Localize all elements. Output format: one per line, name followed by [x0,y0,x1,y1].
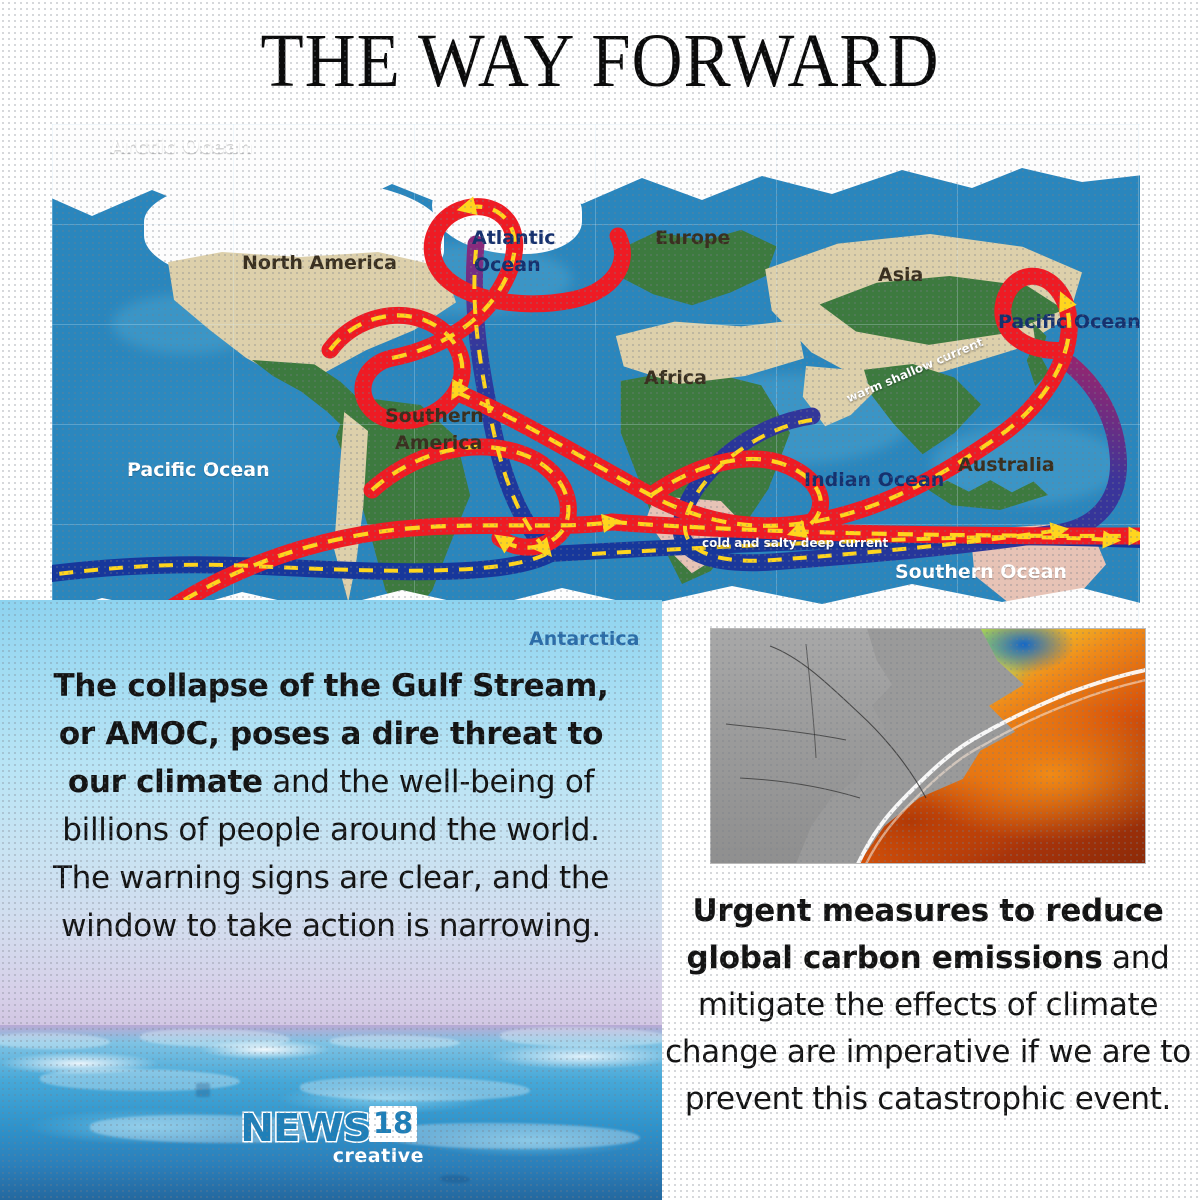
label-pacific-ocean-left: Pacific Ocean [127,459,270,481]
left-statement-text: The collapse of the Gulf Stream, or AMOC… [44,662,618,950]
right-statement-text: Urgent measures to reduce global carbon … [664,888,1192,1123]
label-cold-salty-deep-current: cold and salty deep current [702,536,888,550]
label-indian-ocean: Indian Ocean [804,469,944,491]
label-pacific-ocean-right: Pacific Ocean [998,311,1140,333]
label-atlantic-ocean-2: Ocean [474,254,541,276]
ocean-current-paths [52,124,1140,624]
right-statement-bold: Urgent measures to reduce global carbon … [687,893,1164,976]
label-atlantic-ocean-1: Atlantic [472,227,556,249]
gulf-stream-sst-satellite-image [710,628,1146,864]
label-southern-america-2: America [395,432,482,454]
thermohaline-circulation-map: Arctic Ocean North America Atlantic Ocea… [52,124,1140,624]
label-southern-ocean: Southern Ocean [895,561,1067,583]
label-australia: Australia [958,454,1055,476]
label-africa: Africa [644,367,707,389]
logo-wordmark: NEWS [240,1109,370,1147]
satellite-image-border [710,628,1146,864]
label-antarctica: Antarctica [529,628,639,650]
logo-number-badge: 18 [369,1106,417,1142]
logo-subtitle: creative [243,1147,424,1166]
label-europe: Europe [655,227,730,249]
news18-creative-logo[interactable]: NEWS 18 creative [243,1106,418,1166]
page-title: THE WAY FORWARD [42,22,1158,100]
label-north-america: North America [242,252,397,274]
label-southern-america-1: Southern [385,405,484,427]
label-arctic-ocean: Arctic Ocean [110,134,253,158]
label-asia: Asia [878,264,923,286]
